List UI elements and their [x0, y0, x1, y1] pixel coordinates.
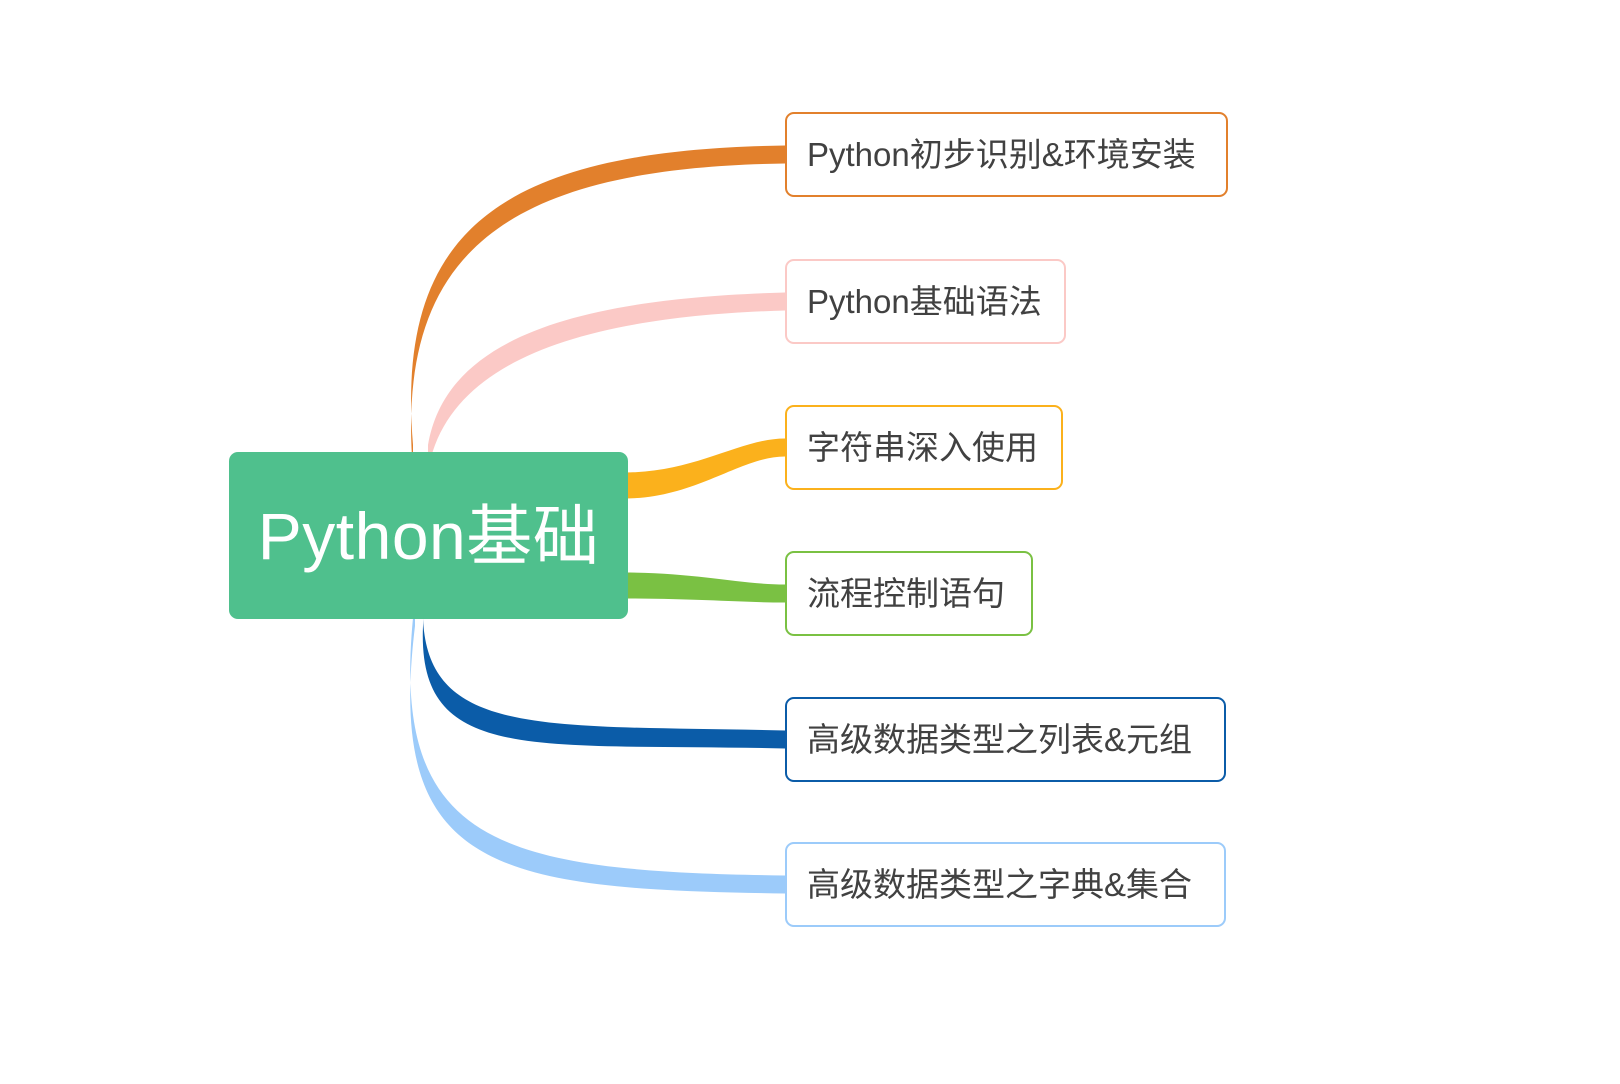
- topic-list-tuple-connector: [423, 600, 785, 749]
- topic-list-tuple[interactable]: 高级数据类型之列表&元组: [785, 697, 1226, 782]
- topic-flow-control-connector: [624, 573, 785, 603]
- root-node-label: Python基础: [258, 503, 599, 569]
- topic-flow-control[interactable]: 流程控制语句: [785, 551, 1033, 636]
- topic-python-intro-env-label: Python初步识别&环境安装: [787, 138, 1216, 171]
- topic-string-advanced-label: 字符串深入使用: [787, 431, 1058, 464]
- topic-python-intro-env[interactable]: Python初步识别&环境安装: [785, 112, 1228, 197]
- topic-string-advanced[interactable]: 字符串深入使用: [785, 405, 1063, 490]
- topic-list-tuple-label: 高级数据类型之列表&元组: [787, 723, 1212, 756]
- topic-flow-control-label: 流程控制语句: [787, 577, 1025, 610]
- topic-dict-set-label: 高级数据类型之字典&集合: [787, 868, 1212, 901]
- mindmap-canvas: Python基础 Python初步识别&环境安装Python基础语法字符串深入使…: [0, 0, 1620, 1084]
- topic-python-basic-syntax-label: Python基础语法: [787, 285, 1062, 318]
- topic-string-advanced-connector: [624, 439, 785, 499]
- root-node[interactable]: Python基础: [229, 452, 628, 619]
- topic-python-basic-syntax-connector: [428, 293, 785, 472]
- topic-python-basic-syntax[interactable]: Python基础语法: [785, 259, 1066, 344]
- topic-dict-set[interactable]: 高级数据类型之字典&集合: [785, 842, 1226, 927]
